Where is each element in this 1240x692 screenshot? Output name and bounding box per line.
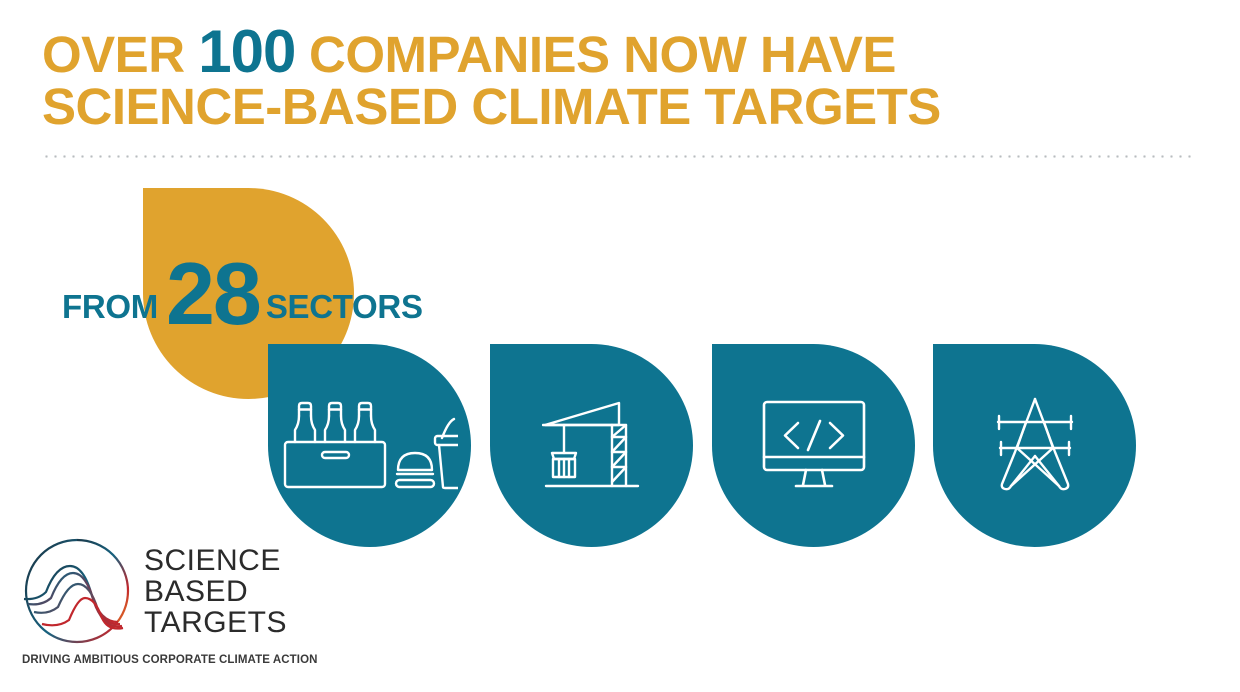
page-title: OVER 100 COMPANIES NOW HAVE SCIENCE-BASE… [42, 26, 1142, 133]
sector-icon-tile-software[interactable] [712, 344, 915, 547]
headline-line-1: OVER 100 COMPANIES NOW HAVE [42, 26, 1142, 81]
company-count: 100 [198, 18, 295, 85]
wordmark-line-2: BASED [144, 576, 287, 607]
headline-suffix: COMPANIES NOW HAVE [295, 26, 896, 83]
headline-line-2: SCIENCE-BASED CLIMATE TARGETS [42, 81, 1142, 133]
sector-icon-tile-construction[interactable] [490, 344, 693, 547]
software-monitor-code-icon [762, 400, 866, 492]
wordmark-line-3: TARGETS [144, 607, 287, 638]
sector-callout: FROM 28 SECTORS [62, 244, 423, 332]
infographic-canvas: OVER 100 COMPANIES NOW HAVE SCIENCE-BASE… [0, 0, 1240, 692]
headline-prefix: OVER [42, 26, 198, 83]
sector-icon-tile-food-and-beverage[interactable] [268, 344, 471, 547]
sector-count: 28 [166, 250, 260, 338]
sbt-logo: SCIENCE BASED TARGETS DRIVING AMBITIOUS … [22, 536, 318, 666]
sector-suffix-label: SECTORS [266, 288, 423, 326]
food-and-beverage-icon [282, 392, 458, 500]
sector-prefix-label: FROM [62, 288, 158, 326]
sbt-wordmark: SCIENCE BASED TARGETS [144, 545, 287, 638]
dotted-divider [42, 155, 1196, 158]
sbt-tagline: DRIVING AMBITIOUS CORPORATE CLIMATE ACTI… [22, 654, 318, 666]
sector-icon-tile-electric-utilities[interactable] [933, 344, 1136, 547]
sbt-circle-emblem-icon [22, 536, 132, 646]
electricity-pylon-icon [990, 396, 1080, 496]
construction-crane-icon [542, 398, 642, 494]
wordmark-line-1: SCIENCE [144, 545, 287, 576]
